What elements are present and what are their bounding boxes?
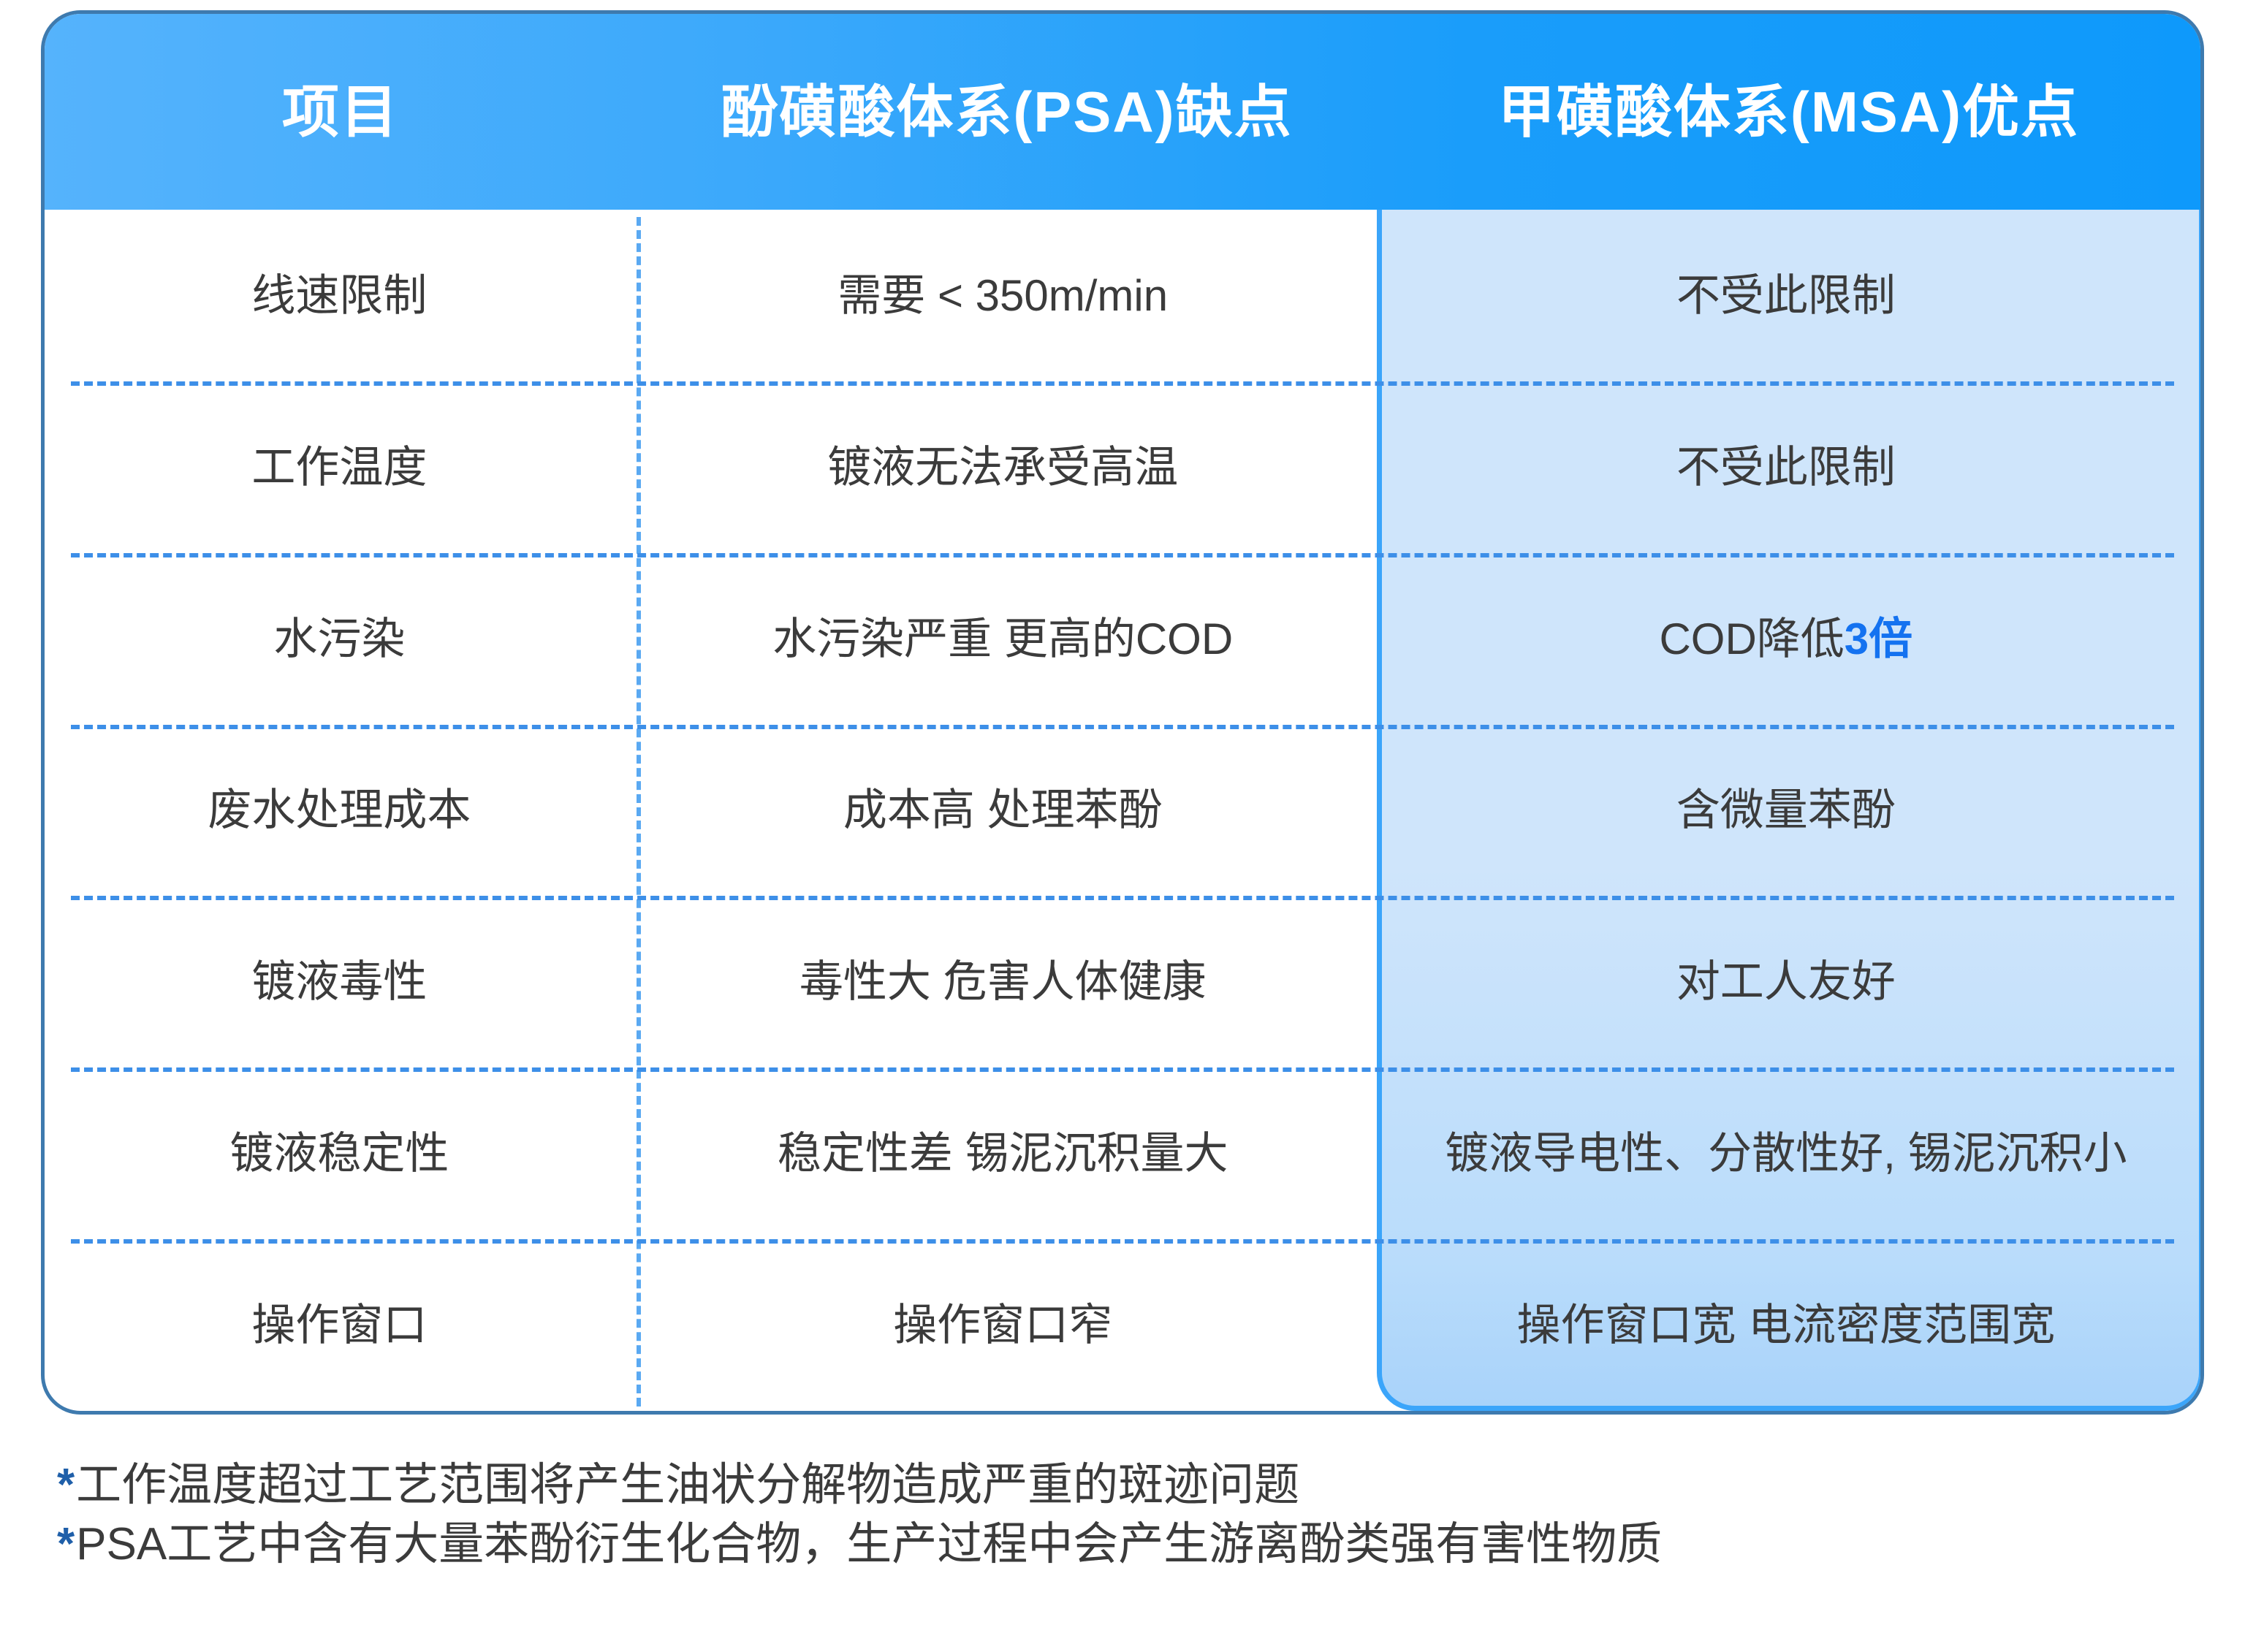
header-cell-msa: 甲磺酸体系(MSA)优点 xyxy=(1377,14,2200,210)
footnotes: *工作温度超过工艺范围将产生油状分解物造成严重的斑迹问题 *PSA工艺中含有大量… xyxy=(0,1458,2245,1577)
cell-msa: 操作窗口宽 电流密度范围宽 xyxy=(1372,1239,2200,1411)
table-header-row: 项目 酚磺酸体系(PSA)缺点 甲磺酸体系(MSA)优点 xyxy=(45,14,2200,210)
cell-msa: 对工人友好 xyxy=(1372,896,2200,1067)
cell-item: 操作窗口 xyxy=(45,1239,634,1411)
table-rows: 线速限制 需要 < 350m/min 不受此限制 工作温度 镀液无法承受高温 不… xyxy=(45,210,2200,1411)
header-cell-item: 项目 xyxy=(45,14,637,210)
cell-psa: 成本高 处理苯酚 xyxy=(634,725,1372,897)
footnote-marker-icon: * xyxy=(57,1519,75,1569)
cell-psa: 稳定性差 锡泥沉积量大 xyxy=(634,1067,1372,1239)
table-body: 线速限制 需要 < 350m/min 不受此限制 工作温度 镀液无法承受高温 不… xyxy=(45,210,2200,1411)
table-row: 操作窗口 操作窗口窄 操作窗口宽 电流密度范围宽 xyxy=(45,1239,2200,1411)
cell-msa-text: 操作窗口宽 电流密度范围宽 xyxy=(1516,1300,2055,1350)
footnote-item: *PSA工艺中含有大量苯酚衍生化合物，生产过程中会产生游离酚类强有害性物质 xyxy=(57,1518,1669,1577)
cell-item: 工作温度 xyxy=(45,381,634,553)
cell-msa-text: 镀液导电性、分散性好, 锡泥沉积小 xyxy=(1445,1128,2127,1179)
cell-msa: 含微量苯酚 xyxy=(1372,725,2200,897)
cell-item: 废水处理成本 xyxy=(45,725,634,897)
cell-psa: 水污染严重 更高的COD xyxy=(634,553,1372,725)
header-cell-psa: 酚磺酸体系(PSA)缺点 xyxy=(637,14,1377,210)
cell-psa: 毒性大 危害人体健康 xyxy=(634,896,1372,1067)
cell-psa: 操作窗口窄 xyxy=(634,1239,1372,1411)
cell-msa-text: 不受此限制 xyxy=(1676,442,1896,492)
cell-msa: 不受此限制 xyxy=(1372,210,2200,381)
table-row: 镀液稳定性 稳定性差 锡泥沉积量大 镀液导电性、分散性好, 锡泥沉积小 xyxy=(45,1067,2200,1239)
cell-item: 水污染 xyxy=(45,553,634,725)
table-row: 线速限制 需要 < 350m/min 不受此限制 xyxy=(45,210,2200,381)
cell-msa-text: COD降低 xyxy=(1659,614,1844,664)
table-row: 废水处理成本 成本高 处理苯酚 含微量苯酚 xyxy=(45,725,2200,897)
footnote-text: PSA工艺中含有大量苯酚衍生化合物，生产过程中会产生游离酚类强有害性物质 xyxy=(76,1519,1662,1569)
cell-msa-text: 对工人友好 xyxy=(1676,956,1896,1007)
comparison-table-page: 项目 酚磺酸体系(PSA)缺点 甲磺酸体系(MSA)优点 线速限制 需要 < 3… xyxy=(0,0,2245,1652)
cell-item: 镀液毒性 xyxy=(45,896,634,1067)
cell-msa-text: 含微量苯酚 xyxy=(1676,785,1896,835)
table-row: 水污染 水污染严重 更高的COD COD降低3倍 xyxy=(45,553,2200,725)
cell-msa: 镀液导电性、分散性好, 锡泥沉积小 xyxy=(1372,1067,2200,1239)
table-row: 工作温度 镀液无法承受高温 不受此限制 xyxy=(45,381,2200,553)
cell-msa: COD降低3倍 xyxy=(1372,553,2200,725)
footnote-marker-icon: * xyxy=(57,1460,75,1510)
table-row: 镀液毒性 毒性大 危害人体健康 对工人友好 xyxy=(45,896,2200,1067)
cell-msa: 不受此限制 xyxy=(1372,381,2200,553)
comparison-card: 项目 酚磺酸体系(PSA)缺点 甲磺酸体系(MSA)优点 线速限制 需要 < 3… xyxy=(41,10,2204,1415)
cell-psa: 需要 < 350m/min xyxy=(634,210,1372,381)
cell-psa: 镀液无法承受高温 xyxy=(634,381,1372,553)
cell-item: 镀液稳定性 xyxy=(45,1067,634,1239)
footnote-item: *工作温度超过工艺范围将产生油状分解物造成严重的斑迹问题 xyxy=(57,1458,1307,1518)
cell-item: 线速限制 xyxy=(45,210,634,381)
footnote-text: 工作温度超过工艺范围将产生油状分解物造成严重的斑迹问题 xyxy=(76,1460,1299,1510)
cell-msa-accent: 3倍 xyxy=(1845,614,1912,664)
cell-msa-text: 不受此限制 xyxy=(1676,270,1896,321)
